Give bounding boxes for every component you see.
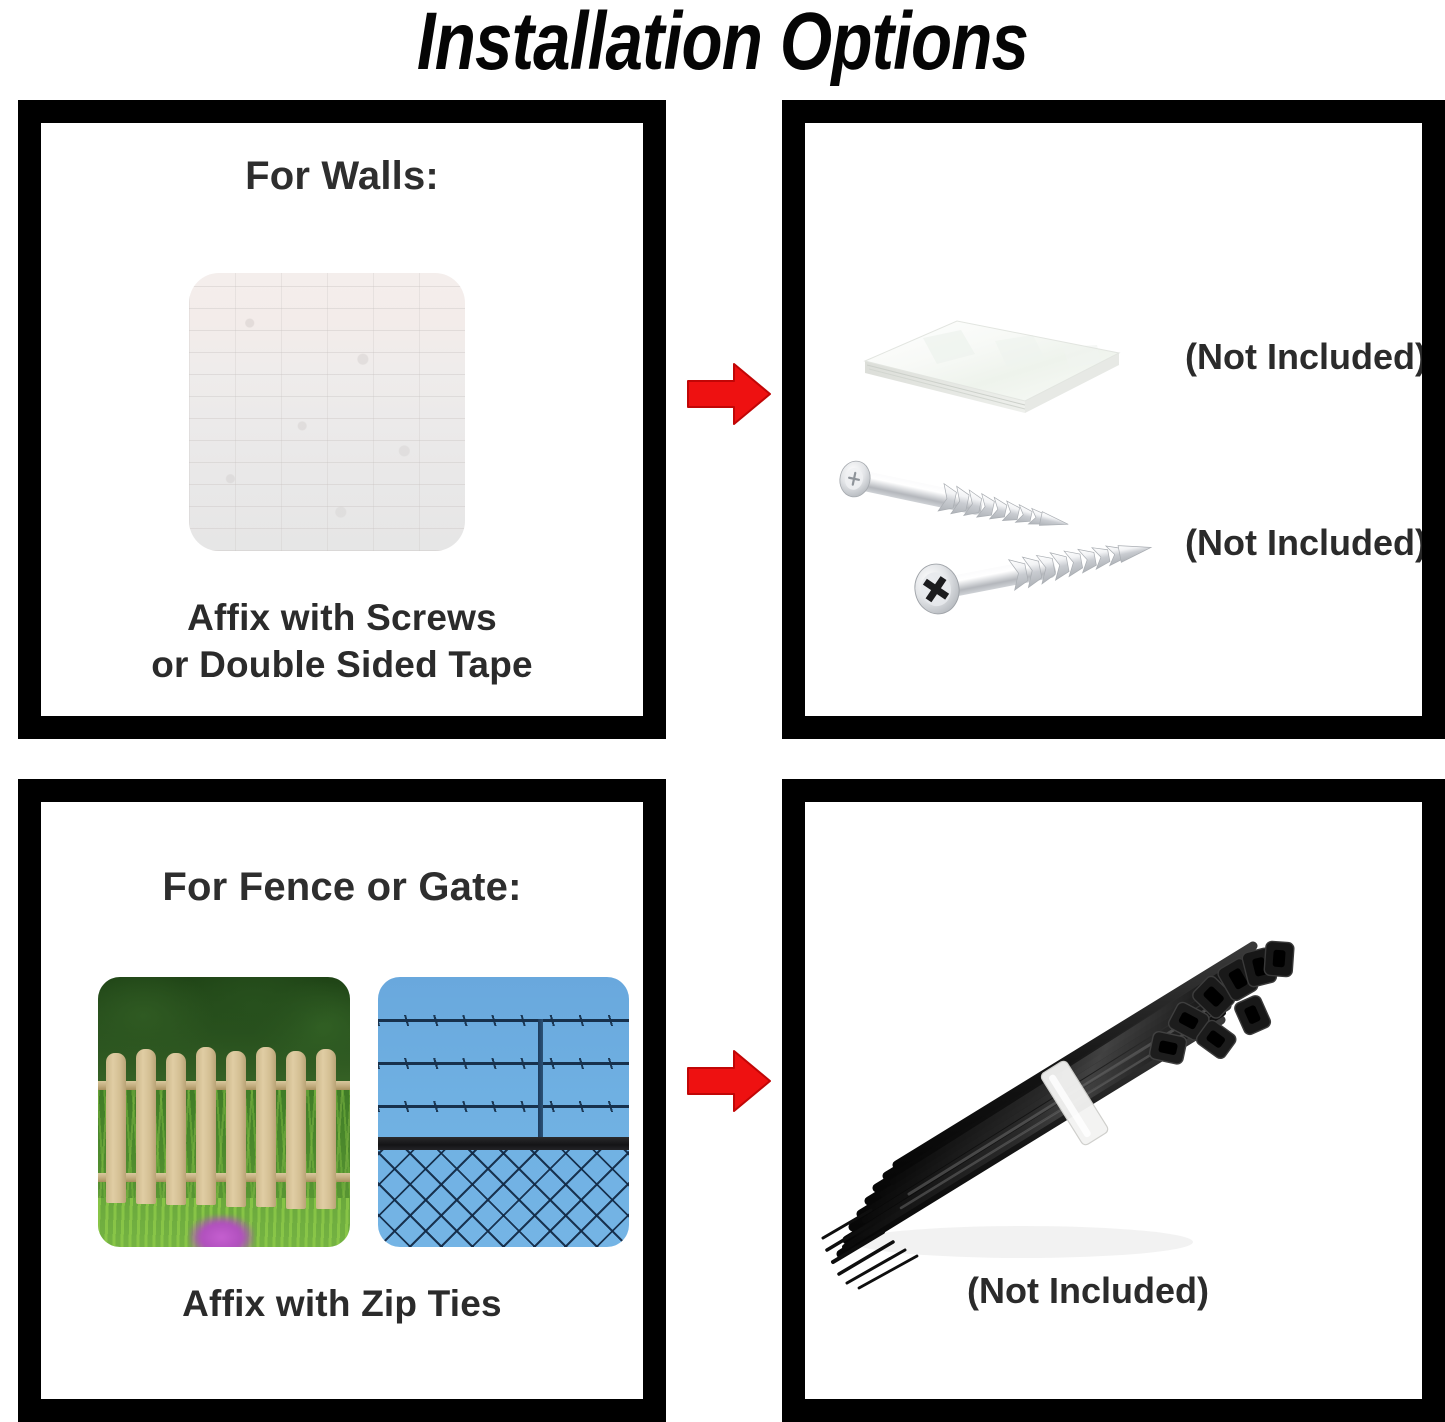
chain-link-fence-photo-icon	[378, 977, 629, 1247]
walls-caption-line2: or Double Sided Tape	[41, 642, 643, 688]
panel-for-walls: For Walls: Affix with Screws or Double S…	[18, 100, 666, 739]
barbed-wire-strand	[378, 1062, 629, 1065]
wooden-picket-fence-photo-icon	[98, 977, 350, 1247]
picket-slat	[106, 1053, 126, 1203]
picket-slat	[286, 1051, 306, 1209]
page-title: Installation Options	[130, 0, 1315, 88]
phillips-wood-screws-icon	[825, 451, 1185, 641]
picket-slat	[316, 1049, 336, 1209]
double-sided-tape-stack-icon	[857, 241, 1127, 419]
red-right-arrow-icon-top	[686, 361, 772, 427]
panel-for-fence-or-gate: For Fence or Gate:	[18, 779, 666, 1422]
panel-for-walls-inner: For Walls: Affix with Screws or Double S…	[41, 123, 643, 716]
panel-wall-hardware-inner: (Not Included)	[805, 123, 1422, 716]
panel-fence-hardware: (Not Included)	[782, 779, 1445, 1422]
picket-slat	[196, 1047, 216, 1205]
picket-slat	[166, 1053, 186, 1205]
for-fence-heading: For Fence or Gate:	[41, 864, 643, 910]
purple-path-patch	[189, 1215, 255, 1247]
red-right-arrow-icon-bottom	[686, 1048, 772, 1114]
panel-for-fence-inner: For Fence or Gate:	[41, 802, 643, 1399]
panel-wall-hardware: (Not Included)	[782, 100, 1445, 739]
panel-fence-hardware-inner: (Not Included)	[805, 802, 1422, 1399]
for-walls-heading: For Walls:	[41, 153, 643, 199]
ziptie-not-included-label: (Not Included)	[967, 1269, 1209, 1313]
chain-link-mesh	[378, 1150, 629, 1247]
fence-caption: Affix with Zip Ties	[41, 1281, 643, 1327]
fence-top-rail	[378, 1137, 629, 1150]
picket-slat	[226, 1051, 246, 1207]
barbed-wire-strand	[378, 1019, 629, 1022]
brick-speckle-texture	[189, 273, 465, 551]
fence-post	[538, 1019, 543, 1144]
screws-not-included-label: (Not Included)	[1185, 521, 1422, 565]
walls-caption-line1: Affix with Screws	[41, 595, 643, 641]
picket-slat	[256, 1047, 276, 1207]
white-brick-wall-swatch-icon	[189, 273, 465, 551]
black-zip-tie-bundle-icon	[813, 902, 1303, 1292]
barbed-wire-strand	[378, 1105, 629, 1108]
picket-slat	[136, 1049, 156, 1204]
tape-not-included-label: (Not Included)	[1185, 335, 1422, 379]
installation-options-infographic: Installation Options For Walls: Affix wi…	[0, 0, 1445, 1422]
